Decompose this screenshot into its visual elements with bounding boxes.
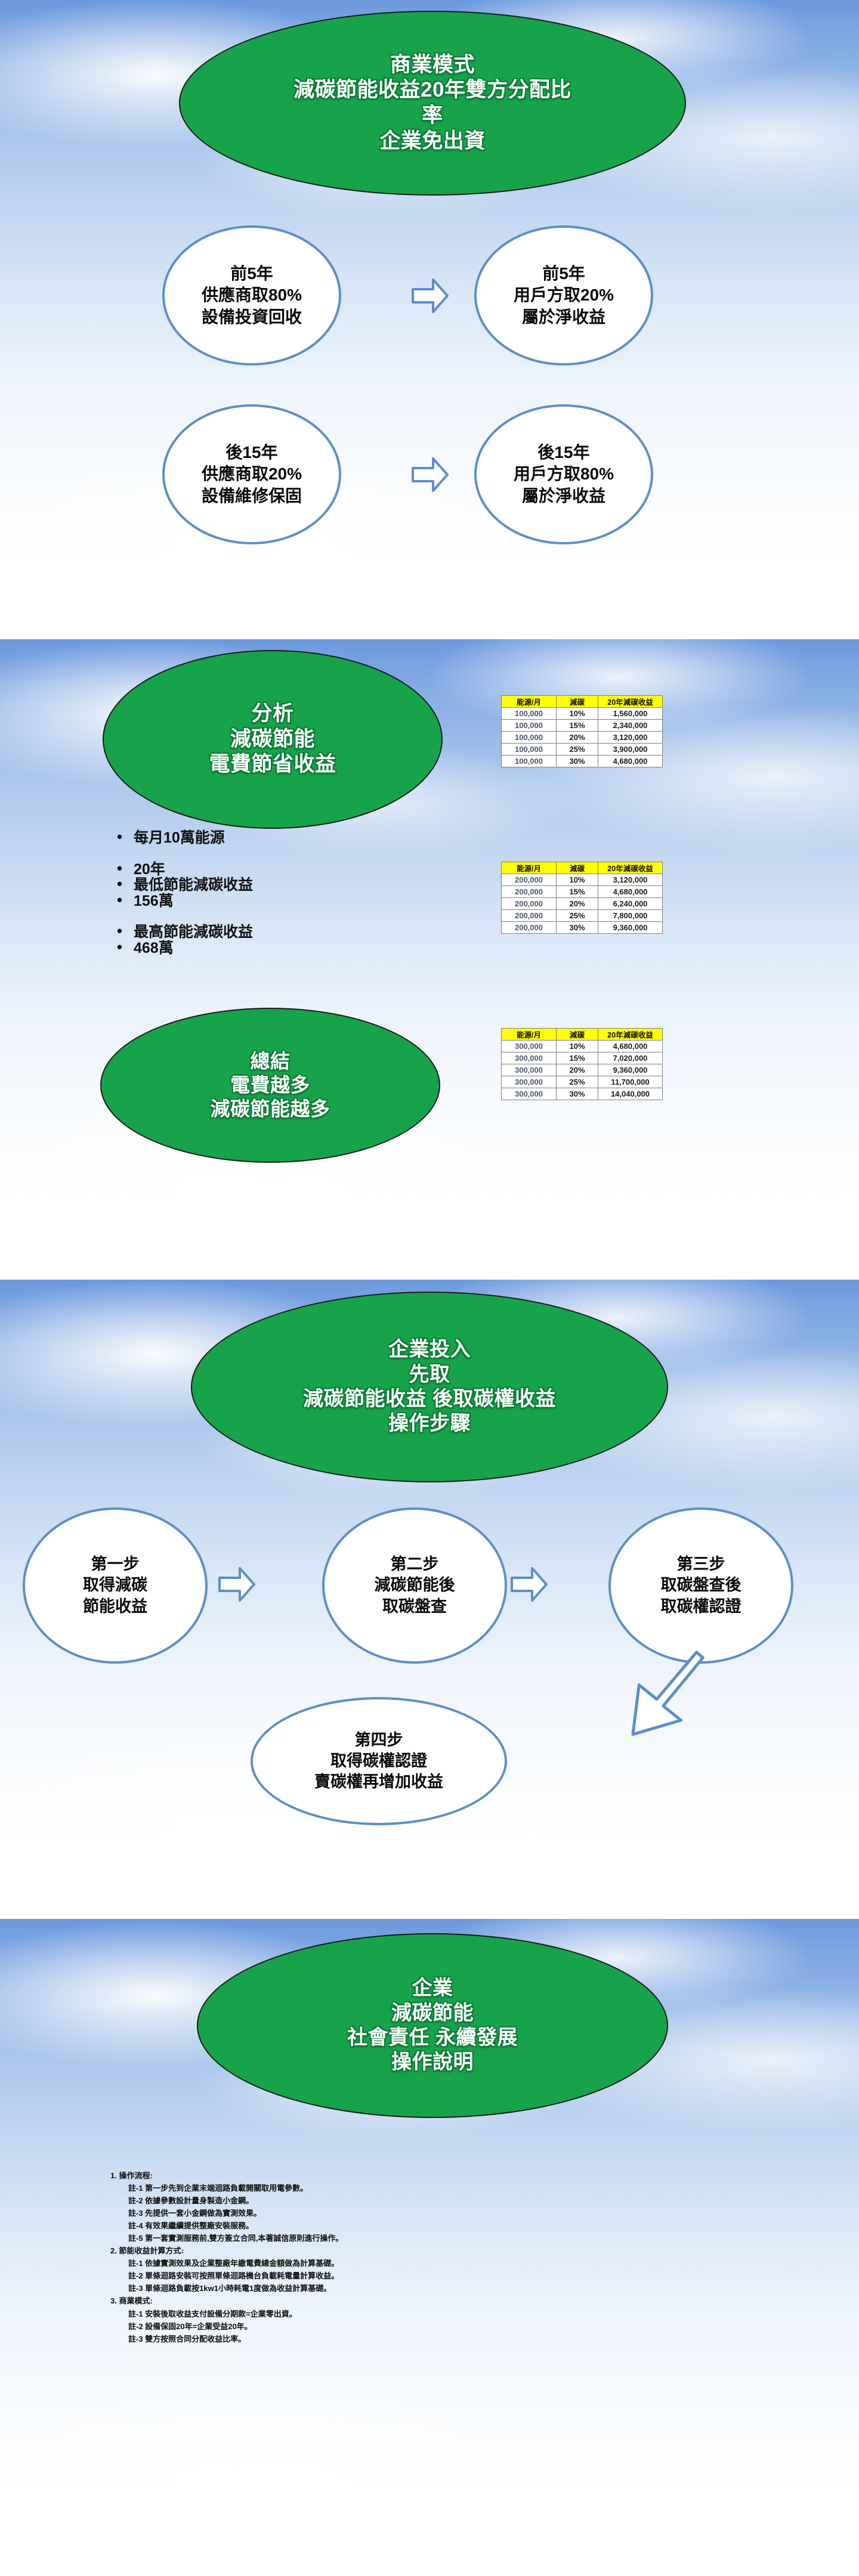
cell-revenue: 7,020,000: [598, 1052, 663, 1064]
note-line: 註-3 單條迴路負載按1kw1小時耗電1度做為收益計算基礎。: [128, 2282, 767, 2295]
csr-notes: 1. 操作流程: 註-1 第一步先到企業末端迴路負載開關取用電參數。 註-2 依…: [110, 2169, 767, 2345]
cell-energy: 300,000: [502, 1052, 557, 1064]
block-arrow-diagonal-icon: [555, 1634, 734, 1771]
heading-line-3: 電費節省收益: [209, 752, 336, 778]
step-line-2: 取碳盤查後: [661, 1575, 741, 1596]
step-line-3: 賣碳權再增加收益: [314, 1772, 443, 1792]
flow-node-line-2: 供應商取20%: [202, 463, 302, 485]
heading-line-1: 商業模式: [390, 52, 475, 78]
heading-line-1: 企業: [412, 1976, 453, 2001]
heading-line-2: 先取: [409, 1363, 450, 1387]
step-line-2: 取得碳權認證: [330, 1751, 427, 1772]
savings-table-100k: 能源/月 減碳 20年減碳收益 100,000 10% 1,560,000 10…: [501, 695, 663, 767]
summary-line-1: 總結: [251, 1049, 291, 1073]
table-row: 100,000 30% 4,680,000: [502, 756, 663, 767]
cell-carbon: 15%: [557, 886, 598, 898]
table-row: 200,000 15% 4,680,000: [502, 886, 663, 898]
column-header-energy: 能源/月: [502, 696, 557, 708]
cell-carbon: 25%: [557, 910, 598, 922]
flow-node-line-1: 後15年: [537, 442, 589, 463]
list-item: 最低節能減碳收益: [113, 877, 424, 893]
step-line-1: 第四步: [355, 1730, 403, 1751]
flow-node-line-3: 設備投資回收: [202, 306, 302, 328]
slide-analysis: 分析 減碳節能 電費節省收益 每月10萬能源 20年 最低節能減碳收益 156萬…: [0, 639, 859, 1265]
block-arrow-right-icon: [511, 1565, 548, 1604]
analysis-bullet-list: 每月10萬能源 20年 最低節能減碳收益 156萬 最高節能減碳收益 468萬: [113, 830, 424, 956]
table-row: 300,000 20% 9,360,000: [502, 1064, 663, 1076]
heading-line-3: 社會責任 永續發展: [347, 2026, 518, 2050]
heading-line-4: 操作步驟: [388, 1411, 471, 1436]
heading-ellipse-business-model: 商業模式 減碳節能收益20年雙方分配比 率 企業免出資: [179, 11, 686, 196]
note-line: 註-2 依據參數設計量身製造小金鋼。: [128, 2194, 767, 2207]
step-node-4[interactable]: 第四步 取得碳權認證 賣碳權再增加收益: [251, 1697, 507, 1825]
cell-energy: 200,000: [502, 898, 557, 910]
cell-energy: 200,000: [502, 910, 557, 922]
savings-table-200k: 能源/月 減碳 20年減碳收益 200,000 10% 3,120,000 20…: [501, 862, 663, 934]
cell-carbon: 10%: [557, 874, 598, 886]
step-node-2[interactable]: 第二步 減碳節能後 取碳盤查: [322, 1507, 507, 1664]
cell-revenue: 9,360,000: [598, 1064, 663, 1076]
cell-carbon: 20%: [557, 732, 598, 744]
heading-line-2: 減碳節能: [391, 2001, 474, 2026]
notes-group-heading: 2. 節能收益計算方式:: [110, 2244, 767, 2257]
cell-carbon: 20%: [557, 898, 598, 910]
block-arrow-right-icon: [218, 1565, 255, 1604]
cell-revenue: 4,680,000: [598, 756, 663, 767]
cell-revenue: 4,680,000: [598, 1041, 663, 1052]
table-row: 100,000 10% 1,560,000: [502, 708, 663, 720]
flow-node-line-1: 後15年: [225, 442, 277, 463]
step-line-1: 第三步: [677, 1554, 725, 1575]
cell-carbon: 25%: [557, 1076, 598, 1088]
cell-carbon: 20%: [557, 1064, 598, 1076]
column-header-energy: 能源/月: [502, 862, 557, 874]
flow-node-user-first5[interactable]: 前5年 用戶方取20% 屬於淨收益: [474, 225, 653, 366]
column-header-carbon: 減碳: [557, 696, 598, 708]
list-item: 468萬: [113, 940, 424, 956]
heading-line-1: 分析: [251, 701, 293, 727]
table-row: 200,000 10% 3,120,000: [502, 874, 663, 886]
note-line: 註-1 依據實測效果及企業整廠年繳電費總金額做為計算基礎。: [128, 2257, 767, 2270]
notes-group-heading: 1. 操作流程:: [110, 2169, 767, 2182]
cell-energy: 300,000: [502, 1041, 557, 1052]
list-spacer: [113, 909, 424, 924]
table-row: 200,000 20% 6,240,000: [502, 898, 663, 910]
note-line: 註-1 安裝後取收益支付設備分期款=企業零出資。: [128, 2308, 767, 2320]
step-line-1: 第一步: [91, 1554, 140, 1575]
cell-carbon: 15%: [557, 1052, 598, 1064]
column-header-revenue: 20年減碳收益: [598, 696, 663, 708]
flow-node-line-2: 用戶方取80%: [514, 463, 614, 485]
step-node-1[interactable]: 第一步 取得減碳 節能收益: [23, 1507, 208, 1664]
cell-energy: 100,000: [502, 732, 557, 744]
column-header-carbon: 減碳: [557, 1029, 598, 1041]
notes-group-process: 1. 操作流程: 註-1 第一步先到企業末端迴路負載開關取用電參數。 註-2 依…: [110, 2169, 767, 2244]
cell-carbon: 30%: [557, 922, 598, 934]
cell-energy: 200,000: [502, 922, 557, 934]
cell-carbon: 30%: [557, 756, 598, 767]
cell-revenue: 1,560,000: [598, 708, 663, 720]
column-header-energy: 能源/月: [502, 1029, 557, 1041]
cell-carbon: 30%: [557, 1088, 598, 1100]
table-header-row: 能源/月 減碳 20年減碳收益: [502, 696, 663, 708]
cell-revenue: 9,360,000: [598, 922, 663, 934]
table-row: 300,000 10% 4,680,000: [502, 1041, 663, 1052]
cell-revenue: 4,680,000: [598, 886, 663, 898]
note-line: 註-3 先提供一套小金鋼做為實測效果。: [128, 2207, 767, 2219]
list-item: 156萬: [113, 893, 424, 909]
cell-energy: 100,000: [502, 744, 557, 756]
flow-node-line-1: 前5年: [230, 263, 273, 284]
cell-energy: 100,000: [502, 708, 557, 720]
slide-steps: 企業投入 先取 減碳節能收益 後取碳權收益 操作步驟 第一步 取得減碳 節能收益…: [0, 1280, 859, 1905]
block-arrow-right-icon: [412, 455, 449, 494]
cell-carbon: 15%: [557, 720, 598, 732]
flow-node-line-2: 用戶方取20%: [514, 284, 614, 306]
list-item: 20年: [113, 862, 424, 878]
heading-line-4: 企業免出資: [379, 129, 486, 154]
flow-node-line-2: 供應商取80%: [202, 284, 302, 306]
table-header-row: 能源/月 減碳 20年減碳收益: [502, 1029, 663, 1041]
heading-ellipse-steps: 企業投入 先取 減碳節能收益 後取碳權收益 操作步驟: [191, 1292, 668, 1482]
note-line: 註-4 有效果繼續提供整廠安裝服務。: [128, 2219, 767, 2232]
note-line: 註-5 第一套實測服務前,雙方簽立合同,本著誠信原則進行操作。: [128, 2232, 767, 2244]
table-row: 300,000 30% 14,040,000: [502, 1088, 663, 1100]
cell-revenue: 6,240,000: [598, 898, 663, 910]
slide-business-model: 商業模式 減碳節能收益20年雙方分配比 率 企業免出資 前5年 供應商取80% …: [0, 0, 859, 625]
note-line: 註-2 設備保固20年=企業受益20年。: [128, 2320, 767, 2333]
cell-carbon: 25%: [557, 744, 598, 756]
note-line: 註-1 第一步先到企業末端迴路負載開關取用電參數。: [128, 2182, 767, 2194]
cell-energy: 300,000: [502, 1088, 557, 1100]
cell-carbon: 10%: [557, 708, 598, 720]
note-line: 註-2 單條迴路安裝可按照單條迴路機台負載耗電量計算收益。: [128, 2270, 767, 2282]
table-row: 200,000 30% 9,360,000: [502, 922, 663, 934]
cell-revenue: 2,340,000: [598, 720, 663, 732]
step-line-2: 取得減碳: [83, 1575, 147, 1596]
flow-node-line-3: 設備維修保固: [202, 485, 302, 507]
table-row: 100,000 15% 2,340,000: [502, 720, 663, 732]
list-item: 每月10萬能源: [113, 830, 424, 846]
cell-revenue: 7,800,000: [598, 910, 663, 922]
flow-node-user-last15[interactable]: 後15年 用戶方取80% 屬於淨收益: [474, 404, 653, 544]
heading-line-1: 企業投入: [388, 1337, 471, 1362]
cell-energy: 100,000: [502, 756, 557, 767]
slide-csr: 企業 減碳節能 社會責任 永續發展 操作說明 1. 操作流程: 註-1 第一步先…: [0, 1919, 859, 2559]
heading-line-3: 減碳節能收益 後取碳權收益: [303, 1387, 556, 1411]
heading-ellipse-analysis: 分析 減碳節能 電費節省收益: [103, 650, 443, 829]
cell-revenue: 3,120,000: [598, 874, 663, 886]
step-line-3: 節能收益: [83, 1596, 147, 1617]
heading-line-2: 減碳節能: [230, 727, 315, 753]
slide-separator: [0, 1905, 859, 1919]
block-arrow-right-icon: [412, 276, 449, 315]
table-row: 100,000 25% 3,900,000: [502, 744, 663, 756]
table-row: 300,000 15% 7,020,000: [502, 1052, 663, 1064]
cell-energy: 300,000: [502, 1076, 557, 1088]
notes-group-revenue-calc: 2. 節能收益計算方式: 註-1 依據實測效果及企業整廠年繳電費總金額做為計算基…: [110, 2244, 767, 2295]
slide-separator: [0, 1265, 859, 1280]
cell-revenue: 14,040,000: [598, 1088, 663, 1100]
flow-node-line-3: 屬於淨收益: [522, 485, 605, 507]
cell-energy: 200,000: [502, 874, 557, 886]
summary-line-2: 電費越多: [230, 1073, 310, 1097]
cell-energy: 300,000: [502, 1064, 557, 1076]
flow-node-supplier-last15[interactable]: 後15年 供應商取20% 設備維修保固: [162, 404, 341, 544]
heading-line-2: 減碳節能收益20年雙方分配比: [293, 78, 571, 103]
summary-ellipse-analysis: 總結 電費越多 減碳節能越多: [100, 1008, 440, 1163]
step-line-3: 取碳盤查: [382, 1596, 447, 1617]
notes-group-business-model: 3. 商業模式: 註-1 安裝後取收益支付設備分期款=企業零出資。 註-2 設備…: [110, 2295, 767, 2345]
heading-ellipse-csr: 企業 減碳節能 社會責任 永續發展 操作說明: [197, 1933, 668, 2118]
cell-revenue: 3,120,000: [598, 732, 663, 744]
cell-revenue: 3,900,000: [598, 744, 663, 756]
table-row: 300,000 25% 11,700,000: [502, 1076, 663, 1088]
step-line-2: 減碳節能後: [375, 1575, 455, 1596]
step-line-3: 取碳權認證: [661, 1596, 741, 1617]
list-item: 最高節能減碳收益: [113, 924, 424, 940]
cell-revenue: 11,700,000: [598, 1076, 663, 1088]
list-spacer: [113, 846, 424, 862]
slide-separator: [0, 625, 859, 639]
table-row: 200,000 25% 7,800,000: [502, 910, 663, 922]
step-line-1: 第二步: [391, 1554, 439, 1575]
table-header-row: 能源/月 減碳 20年減碳收益: [502, 862, 663, 874]
notes-group-heading: 3. 商業模式:: [110, 2295, 767, 2307]
note-line: 註-3 雙方按照合同分配收益比率。: [128, 2333, 767, 2345]
column-header-carbon: 減碳: [557, 862, 598, 874]
flow-node-line-3: 屬於淨收益: [522, 306, 605, 328]
flow-node-supplier-first5[interactable]: 前5年 供應商取80% 設備投資回收: [162, 225, 341, 366]
cell-energy: 200,000: [502, 886, 557, 898]
heading-line-3: 率: [422, 103, 443, 129]
column-header-revenue: 20年減碳收益: [598, 862, 663, 874]
summary-line-3: 減碳節能越多: [211, 1097, 330, 1121]
table-row: 100,000 20% 3,120,000: [502, 732, 663, 744]
heading-line-4: 操作說明: [391, 2050, 474, 2075]
cell-carbon: 10%: [557, 1041, 598, 1052]
column-header-revenue: 20年減碳收益: [598, 1029, 663, 1041]
cell-energy: 100,000: [502, 720, 557, 732]
flow-node-line-1: 前5年: [542, 263, 585, 284]
savings-table-300k: 能源/月 減碳 20年減碳收益 300,000 10% 4,680,000 30…: [501, 1028, 663, 1100]
